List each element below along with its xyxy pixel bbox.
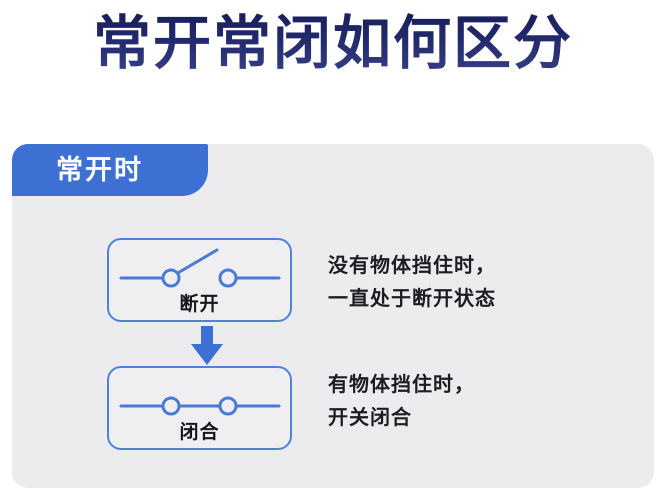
section-tab-normally-open[interactable]: 常开时 xyxy=(12,144,208,196)
description-open-line-1: 没有物体挡住时， xyxy=(328,250,496,283)
description-closed-state: 有物体挡住时， 开关闭合 xyxy=(328,369,475,435)
description-closed-line-2: 开关闭合 xyxy=(328,402,475,435)
switch-closed-caption: 闭合 xyxy=(109,423,290,442)
description-open-state: 没有物体挡住时， 一直处于断开状态 xyxy=(328,250,496,316)
row-closed-state: 闭合 xyxy=(107,366,292,450)
switch-open-caption: 断开 xyxy=(109,295,290,314)
info-card: 常开时 断开 xyxy=(12,144,654,488)
row-open-state: 断开 xyxy=(107,238,292,322)
arrow-down-icon xyxy=(190,326,224,366)
switch-closed-box: 闭合 xyxy=(107,366,292,450)
switch-open-box: 断开 xyxy=(107,238,292,322)
section-tab-label: 常开时 xyxy=(12,157,143,184)
description-closed-line-1: 有物体挡住时， xyxy=(328,369,475,402)
description-open-line-2: 一直处于断开状态 xyxy=(328,283,496,316)
page-title: 常开常闭如何区分 xyxy=(0,6,666,82)
